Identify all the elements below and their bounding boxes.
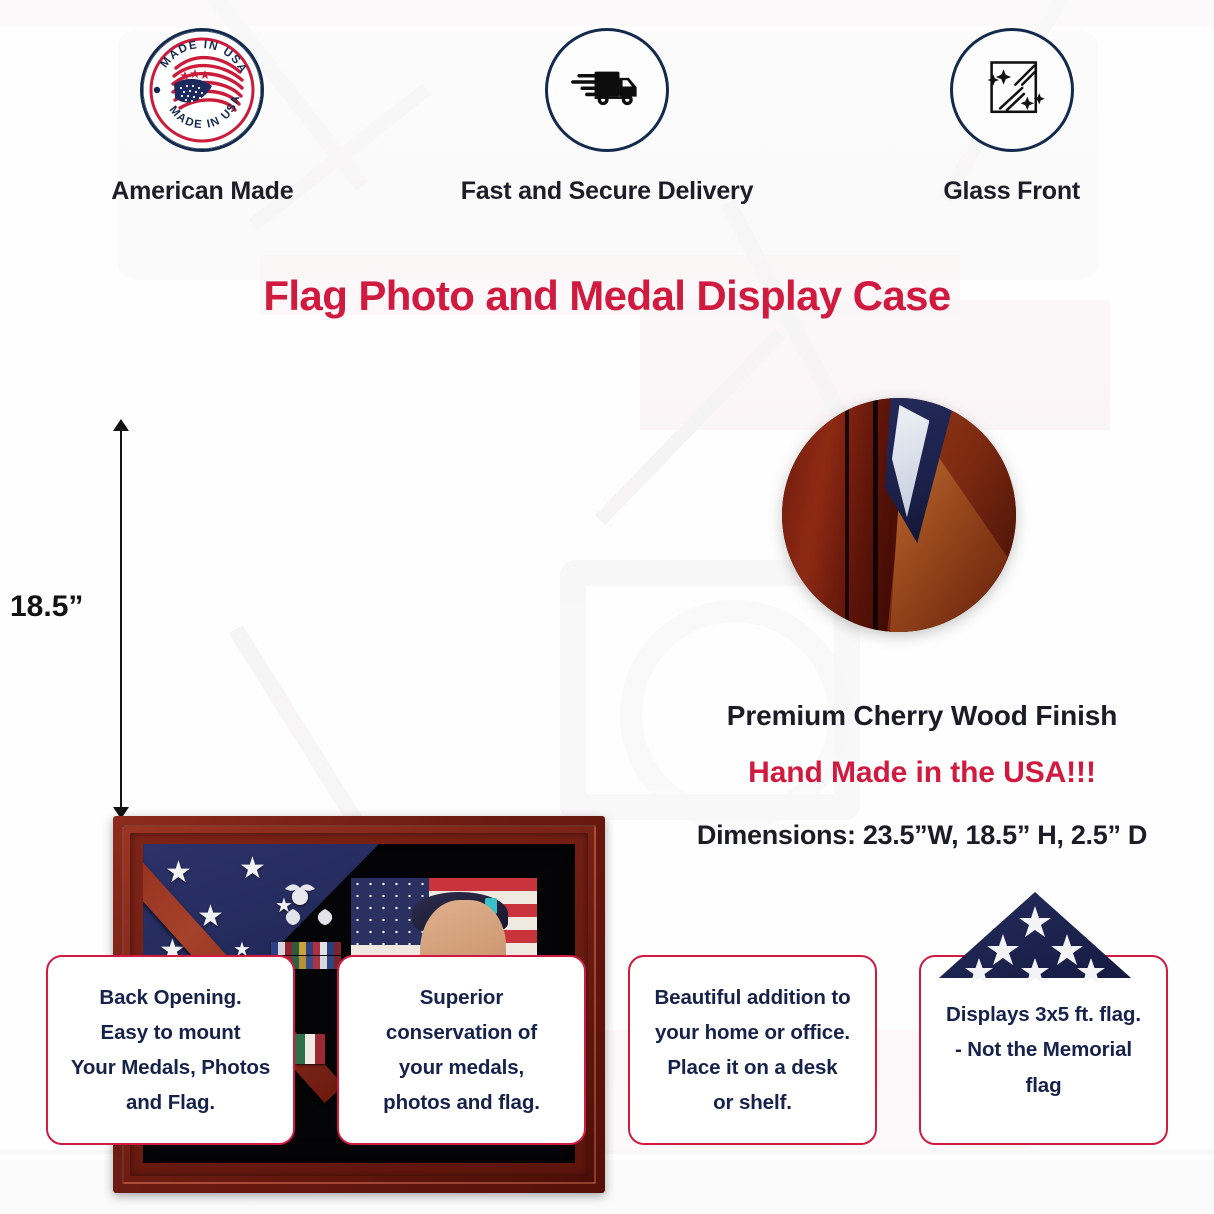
oak-leaf-insignia-left xyxy=(283,908,303,926)
eagle-insignia-shape xyxy=(283,880,317,896)
feature-card-text: Superior conservation of your medals, ph… xyxy=(383,980,540,1121)
feature-card-text: Beautiful addition to your home or offic… xyxy=(654,980,850,1121)
finish-headline: Premium Cherry Wood Finish xyxy=(630,700,1214,732)
delivery-truck-icon xyxy=(568,60,646,121)
feature-card-text: Displays 3x5 ft. flag. - Not the Memoria… xyxy=(946,997,1141,1103)
badge-glass-front: Glass Front xyxy=(809,28,1214,210)
infographic-page: MADE IN USA MADE IN USA American Made xyxy=(0,0,1214,1214)
badge-american-made: MADE IN USA MADE IN USA American Made xyxy=(0,28,405,210)
height-dimension-arrow xyxy=(120,430,122,808)
product-photo-area: 18.5” 23.5” ★ ★ ★ ★ ★ ★ ★ ★ xyxy=(0,385,625,885)
finish-info-block: Premium Cherry Wood Finish Hand Made in … xyxy=(630,700,1214,851)
page-title: Flag Photo and Medal Display Case xyxy=(0,272,1214,320)
handmade-headline: Hand Made in the USA!!! xyxy=(630,756,1214,790)
height-dimension-label: 18.5” xyxy=(10,590,83,624)
feature-card-text: Back Opening. Easy to mount Your Medals,… xyxy=(71,980,270,1121)
oak-leaf-insignia-right xyxy=(315,908,335,926)
feature-card-back-opening[interactable]: Back Opening. Easy to mount Your Medals,… xyxy=(46,955,295,1145)
feature-badges: MADE IN USA MADE IN USA American Made xyxy=(0,28,1214,210)
made-in-usa-seal-icon: MADE IN USA MADE IN USA xyxy=(140,28,264,152)
dimensions-text: Dimensions: 23.5”W, 18.5” H, 2.5” D xyxy=(630,820,1214,851)
glass-pane-sparkle-icon xyxy=(978,54,1046,127)
badge-label: American Made xyxy=(111,174,293,210)
badge-circle xyxy=(545,28,669,152)
badge-label: Glass Front xyxy=(943,174,1080,210)
folded-triangle-flag-icon xyxy=(935,888,1135,984)
badge-fast-secure-delivery: Fast and Secure Delivery xyxy=(405,28,810,210)
feature-card-home-office[interactable]: Beautiful addition to your home or offic… xyxy=(628,955,877,1145)
badge-circle: MADE IN USA MADE IN USA xyxy=(140,28,264,152)
badge-label: Fast and Secure Delivery xyxy=(461,174,754,210)
badge-circle xyxy=(950,28,1074,152)
cherry-wood-closeup-image xyxy=(782,398,1016,632)
feature-card-conservation[interactable]: Superior conservation of your medals, ph… xyxy=(337,955,586,1145)
ribbon-rack xyxy=(271,942,341,955)
